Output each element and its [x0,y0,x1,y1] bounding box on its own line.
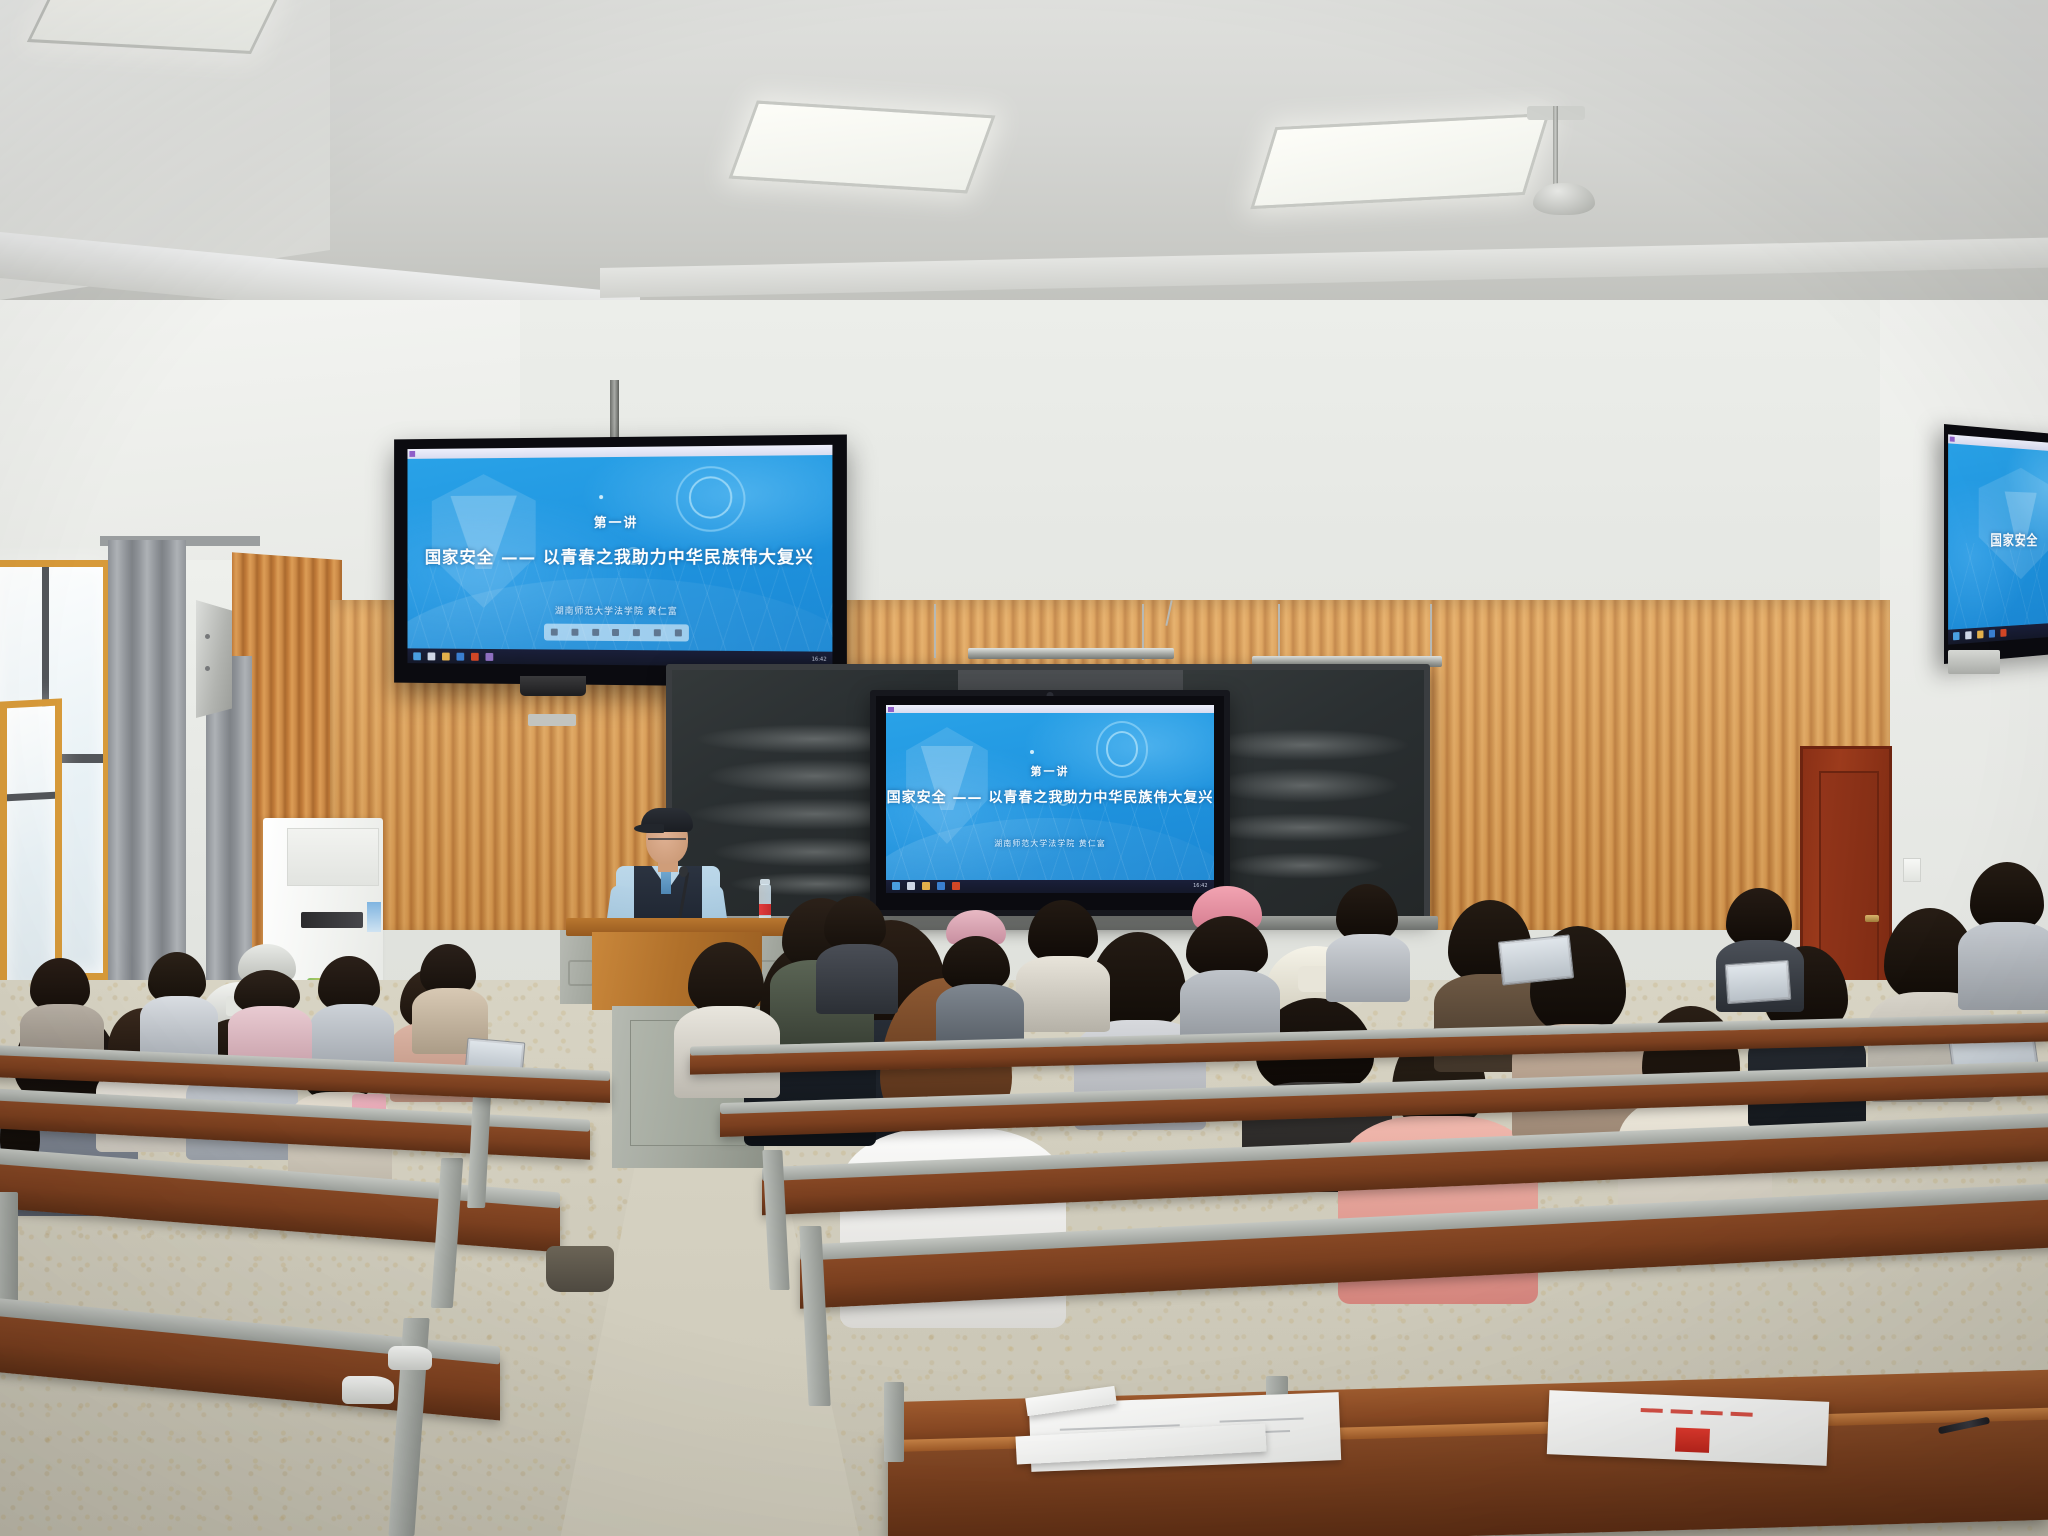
taskbar-clock: 16:42 [812,656,827,662]
search-icon[interactable] [427,652,435,660]
ceiling-tv-bracket-plate [528,714,576,726]
laptop[interactable] [1725,960,1792,1004]
ppt-icon[interactable] [471,652,479,660]
shoe [388,1346,432,1370]
slide-title: 国家安全 —— 以青春之我助力中华民族伟大复兴 [886,787,1213,807]
browser-icon[interactable] [937,882,945,890]
ceiling-tv-mount-arm [610,380,619,442]
pointer-icon[interactable] [551,629,558,636]
ceiling-speaker-rod [1553,106,1558,188]
laptop[interactable] [1498,934,1574,985]
ppt-icon[interactable] [952,882,960,890]
ceiling-speaker-icon [1533,183,1595,215]
glasses-icon [648,838,686,846]
board-light-bar-1 [968,648,1174,659]
windows-icon[interactable] [1953,632,1960,640]
bottle-label [759,904,771,915]
slide-app-titlebar [407,445,833,459]
slide-app-titlebar [1948,434,2048,453]
decorative-dot [599,495,603,499]
app-icon[interactable] [485,652,493,660]
cap-brim-icon [634,824,664,833]
ceiling-tv-screen: 第一讲 国家安全 —— 以青春之我助力中华民族伟大复兴 湖南师范大学法学院 黄仁… [394,434,847,687]
decorative-dot [1030,750,1034,754]
browser-icon[interactable] [456,652,464,660]
red-printed-sheet[interactable] [1547,1390,1829,1466]
window-left-2 [0,698,62,1001]
highlighter-icon[interactable] [592,629,599,636]
slide-main: 第一讲 国家安全 —— 以青春之我助力中华民族伟大复兴 湖南师范大学法学院 黄仁… [886,705,1213,893]
folder-icon[interactable] [442,652,450,660]
eraser-icon[interactable] [612,629,619,636]
wall-speaker-icon [196,600,232,718]
slide-right: 国家安全 [1948,434,2048,644]
ac-display [301,912,363,928]
zoom-icon[interactable] [633,629,640,636]
folder-icon[interactable] [1977,631,1983,639]
windows-icon[interactable] [892,882,900,890]
more-icon[interactable] [675,629,682,636]
shoe [342,1376,394,1404]
pen-icon[interactable] [571,629,578,636]
ppt-icon[interactable] [2001,629,2007,637]
ceiling-mounted-display[interactable]: 第一讲 国家安全 —— 以青春之我助力中华民族伟大复兴 湖南师范大学法学院 黄仁… [394,434,847,687]
windows-icon[interactable] [413,652,421,660]
lectern-logo-icon [568,960,594,986]
search-icon[interactable] [907,882,915,890]
presentation-toolbar[interactable] [544,623,689,641]
ceiling-tv-bracket [520,676,586,696]
curtain-left-1[interactable] [108,540,186,1010]
slide-presenter: 湖南师范大学法学院 黄仁富 [886,838,1213,849]
light-bar-wire [1430,604,1432,660]
slide-ceiling: 第一讲 国家安全 —— 以青春之我助力中华民族伟大复兴 湖南师范大学法学院 黄仁… [407,445,833,667]
right-tv-mount [1948,650,2000,674]
ceiling-light-panel-2 [729,101,996,194]
slide-app-titlebar [886,705,1213,713]
slide-title: 国家安全 —— 以青春之我助力中华民族伟大复兴 [407,543,833,568]
slide-presenter: 湖南师范大学法学院 黄仁富 [407,603,833,618]
slide-icon[interactable] [654,629,661,636]
taskbar-clock: 16:42 [1193,883,1207,889]
windows-taskbar[interactable]: 16:42 [886,880,1213,893]
right-wall-display[interactable]: 国家安全 [1944,424,2048,664]
desk-divider-post [884,1382,904,1462]
door-handle-icon[interactable] [1865,915,1879,922]
microphone-icon [679,866,688,877]
ac-vent [287,828,379,886]
door-panel [1819,771,1879,985]
ac-energy-label [367,902,381,932]
ceiling-light-panel-3 [1250,113,1549,209]
folder-icon[interactable] [922,882,930,890]
right-tv-screen: 国家安全 [1944,424,2048,664]
slide-lecture-label: 第一讲 [886,763,1213,779]
light-bar-wire [1278,604,1280,660]
presenter-tie [661,872,671,894]
light-bar-wire [934,604,936,658]
backpack [546,1246,614,1292]
search-icon[interactable] [1966,632,1972,640]
decorative-circle-icon [1106,731,1139,767]
slide-title-partial: 国家安全 [1948,529,2048,550]
lecture-hall-photo: 第一讲 国家安全 —— 以青春之我助力中华民族伟大复兴 湖南师范大学法学院 黄仁… [0,0,2048,1536]
browser-icon[interactable] [1989,630,1995,638]
window-mullion [7,792,55,802]
main-tv-screen: 第一讲 国家安全 —— 以青春之我助力中华民族伟大复兴 湖南师范大学法学院 黄仁… [876,696,1224,910]
light-switch-panel[interactable] [1903,858,1921,882]
front-interactive-display[interactable]: 第一讲 国家安全 —— 以青春之我助力中华民族伟大复兴 湖南师范大学法学院 黄仁… [870,690,1230,916]
slide-lecture-label: 第一讲 [407,511,833,531]
